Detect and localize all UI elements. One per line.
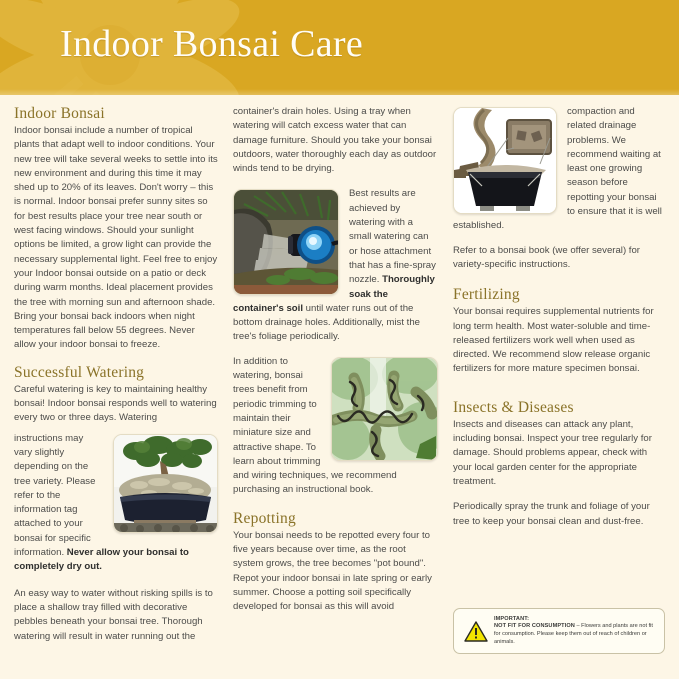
paragraph-best-results-plain: Best results are achieved by watering wi… bbox=[349, 188, 436, 285]
column-left: Indoor Bonsai Indoor bonsai include a nu… bbox=[14, 105, 218, 655]
heading-successful-watering: Successful Watering bbox=[14, 364, 218, 382]
photo-wired-branches bbox=[331, 357, 438, 461]
warning-triangle-icon bbox=[464, 621, 488, 642]
warning-text: IMPORTANT:NOT FIT FOR CONSUMPTION – Flow… bbox=[494, 616, 658, 646]
paragraph-watering-wrap-plain: instructions may vary slightly depending… bbox=[14, 433, 95, 558]
photo-hose-nozzle bbox=[233, 189, 339, 295]
page-header: Indoor Bonsai Care bbox=[0, 0, 679, 95]
paragraph-refer-book: Refer to a bonsai book (we offer several… bbox=[453, 244, 665, 273]
watering-photo-wrap: instructions may vary slightly depending… bbox=[14, 432, 218, 575]
column-right: compaction and related drainage problems… bbox=[453, 105, 665, 540]
paragraph-indoor-bonsai: Indoor bonsai include a number of tropic… bbox=[14, 124, 218, 353]
photo-bonsai-oval-pot bbox=[113, 434, 218, 533]
paragraph-insects-1: Insects and diseases can attack any plan… bbox=[453, 418, 665, 489]
paragraph-repotting: Your bonsai needs to be repotted every f… bbox=[233, 529, 438, 615]
page-title: Indoor Bonsai Care bbox=[60, 22, 363, 66]
paragraph-insects-2: Periodically spray the trunk and foliage… bbox=[453, 500, 665, 529]
column-middle: container's drain holes. Using a tray wh… bbox=[233, 105, 438, 626]
heading-indoor-bonsai: Indoor Bonsai bbox=[14, 105, 218, 123]
paragraph-watering-intro: Careful watering is key to maintaining h… bbox=[14, 383, 218, 426]
page-root: Indoor Bonsai Care Indoor Bonsai Indoor … bbox=[0, 0, 679, 679]
paragraph-drain-holes: container's drain holes. Using a tray wh… bbox=[233, 105, 438, 176]
paragraph-fertilizing: Your bonsai requires supplemental nutrie… bbox=[453, 305, 665, 376]
heading-repotting: Repotting bbox=[233, 510, 438, 528]
heading-fertilizing: Fertilizing bbox=[453, 286, 665, 304]
photo-drainage-screens bbox=[453, 107, 557, 214]
warning-notice: IMPORTANT:NOT FIT FOR CONSUMPTION – Flow… bbox=[453, 608, 665, 654]
heading-insects-diseases: Insects & Diseases bbox=[453, 399, 665, 417]
content-area: Indoor Bonsai Indoor bonsai include a nu… bbox=[0, 95, 679, 679]
wiring-photo-wrap: In addition to watering, bonsai trees be… bbox=[233, 355, 438, 498]
paragraph-watering-closing: An easy way to water without risking spi… bbox=[14, 587, 218, 644]
warning-line1: IMPORTANT: bbox=[494, 616, 658, 624]
hose-photo-wrap: Best results are achieved by watering wi… bbox=[233, 187, 438, 344]
drainage-photo-wrap: compaction and related drainage problems… bbox=[453, 105, 665, 234]
warning-line2-bold: NOT FIT FOR CONSUMPTION bbox=[494, 623, 575, 629]
